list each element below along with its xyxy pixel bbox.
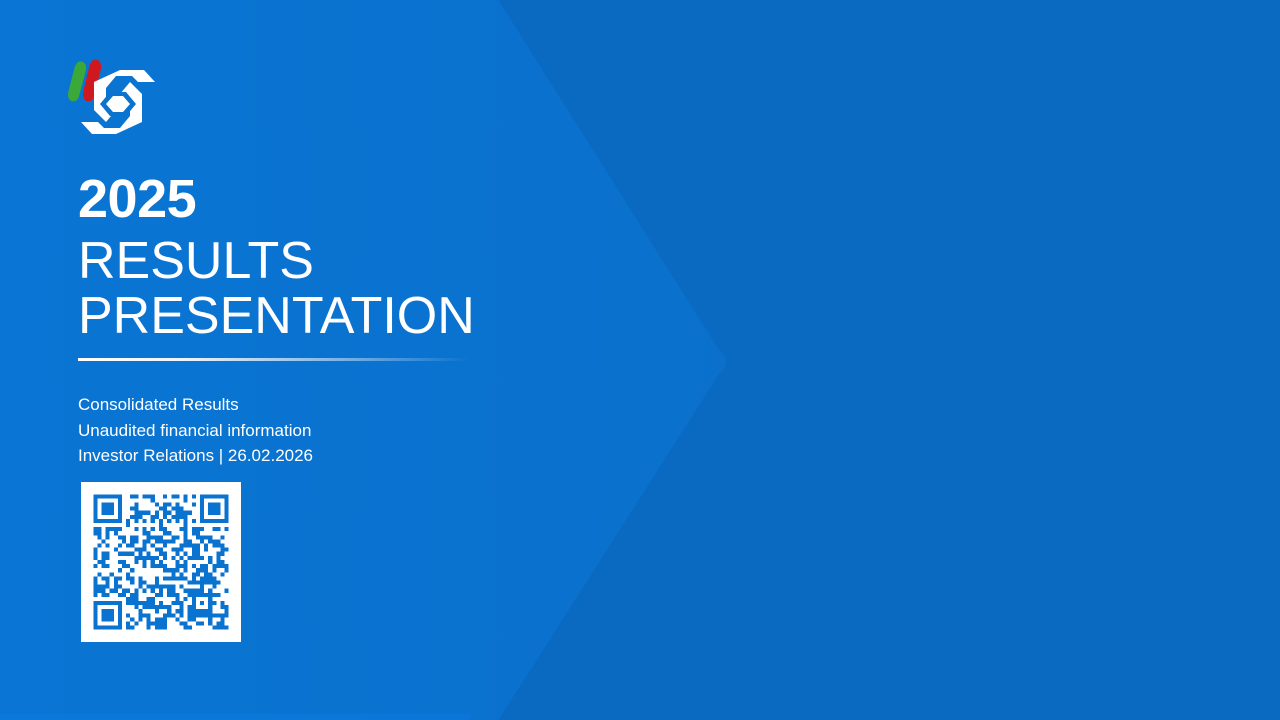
qr-code[interactable] [81,482,241,642]
title-slide: 2025 RESULTS PRESENTATION Consolidated R… [0,0,1280,720]
title-line-2: PRESENTATION [78,289,538,344]
title-main: RESULTS PRESENTATION [78,234,538,344]
subtitle-line-2: Unaudited financial information [78,418,538,444]
title-line-1: RESULTS [78,234,538,289]
title-divider [78,358,470,361]
subtitle-line-1: Consolidated Results [78,392,538,418]
company-logo [58,52,178,152]
title-block: 2025 RESULTS PRESENTATION [78,172,538,344]
subtitle-line-3: Investor Relations | 26.02.2026 [78,443,538,469]
content-column: 2025 RESULTS PRESENTATION Consolidated R… [78,0,598,720]
title-year: 2025 [78,172,538,226]
subtitle-block: Consolidated Results Unaudited financial… [78,392,538,469]
